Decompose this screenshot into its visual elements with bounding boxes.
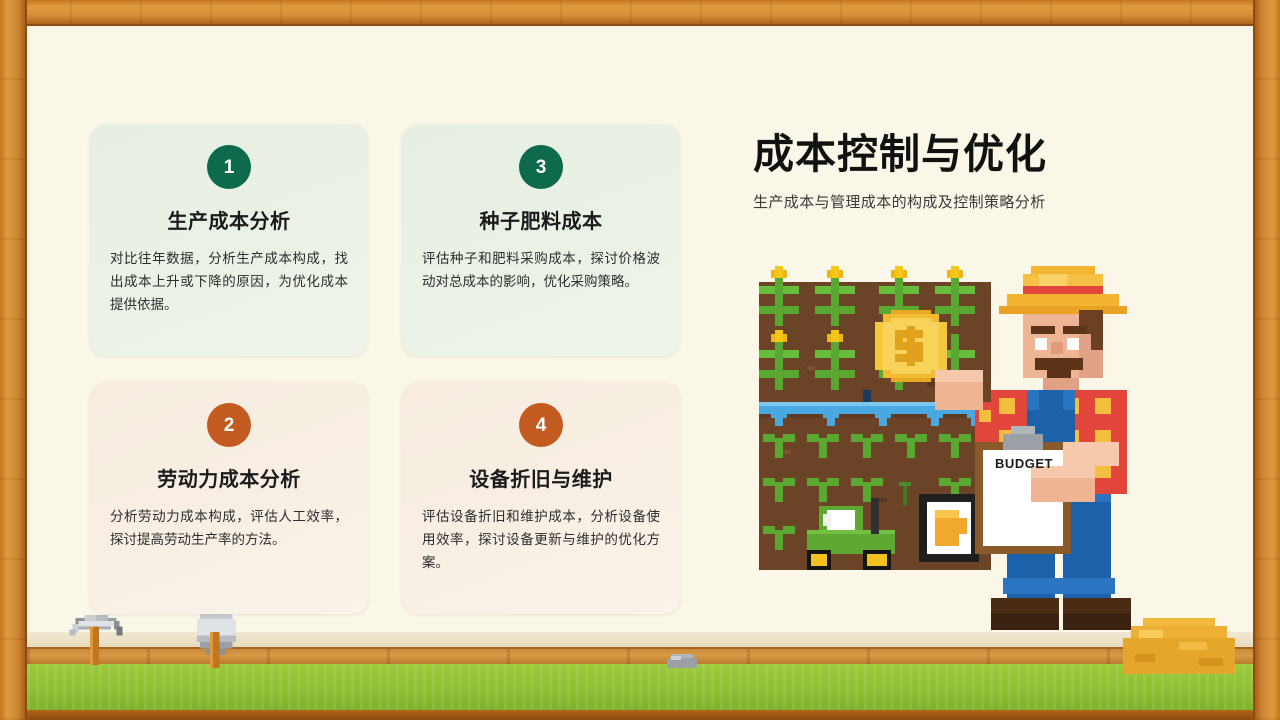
card-description: 评估种子和肥料采购成本，探讨价格波动对总成本的影响，优化采购策略。 (422, 247, 660, 293)
frame-top (0, 0, 1280, 26)
card-badge-number: 2 (207, 403, 251, 447)
card-badge-number: 1 (207, 145, 251, 189)
card-title: 种子肥料成本 (422, 205, 660, 234)
card-description: 对比往年数据，分析生产成本构成，找出成本上升或下降的原因，为优化成本提供依据。 (110, 247, 348, 317)
page-subtitle: 生产成本与管理成本的构成及控制策略分析 (753, 191, 1223, 212)
stone-icon (665, 650, 699, 670)
presentation-slide: 1 生产成本分析 对比往年数据，分析生产成本构成，找出成本上升或下降的原因，为优… (0, 0, 1280, 720)
clipboard-budget-label: BUDGET (985, 456, 1063, 471)
frame-bottom (0, 710, 1280, 720)
card-labor-cost[interactable]: 2 劳动力成本分析 分析劳动力成本构成，评估人工效率，探讨提高劳动生产率的方法。 (90, 382, 368, 614)
shovel-icon (187, 606, 249, 668)
cards-grid: 1 生产成本分析 对比往年数据，分析生产成本构成，找出成本上升或下降的原因，为优… (90, 124, 680, 614)
card-description: 分析劳动力成本构成，评估人工效率，探讨提高劳动生产率的方法。 (110, 505, 348, 551)
card-title: 劳动力成本分析 (110, 463, 348, 492)
farm-illustration: BUDGET (727, 258, 1247, 658)
headline-block: 成本控制与优化 生产成本与管理成本的构成及控制策略分析 (753, 130, 1223, 212)
card-badge-number: 3 (519, 145, 563, 189)
card-badge-number: 4 (519, 403, 563, 447)
frame-right (1253, 0, 1280, 720)
card-seed-fertilizer-cost[interactable]: 3 种子肥料成本 评估种子和肥料采购成本，探讨价格波动对总成本的影响，优化采购策… (402, 124, 680, 356)
slide-canvas: 1 生产成本分析 对比往年数据，分析生产成本构成，找出成本上升或下降的原因，为优… (27, 26, 1253, 710)
scenery-grass (27, 664, 1253, 710)
fuel-can-sign (919, 494, 979, 562)
card-description: 评估设备折旧和维护成本，分析设备使用效率，探讨设备更新与维护的优化方案。 (422, 505, 660, 575)
card-production-cost[interactable]: 1 生产成本分析 对比往年数据，分析生产成本构成，找出成本上升或下降的原因，为优… (90, 124, 368, 356)
page-title: 成本控制与优化 (753, 130, 1223, 178)
card-title: 生产成本分析 (110, 205, 348, 234)
pickaxe-icon (63, 612, 141, 668)
frame-left (0, 0, 27, 720)
card-title: 设备折旧与维护 (422, 463, 660, 492)
card-equipment-depreciation[interactable]: 4 设备折旧与维护 评估设备折旧和维护成本，分析设备使用效率，探讨设备更新与维护… (402, 382, 680, 614)
